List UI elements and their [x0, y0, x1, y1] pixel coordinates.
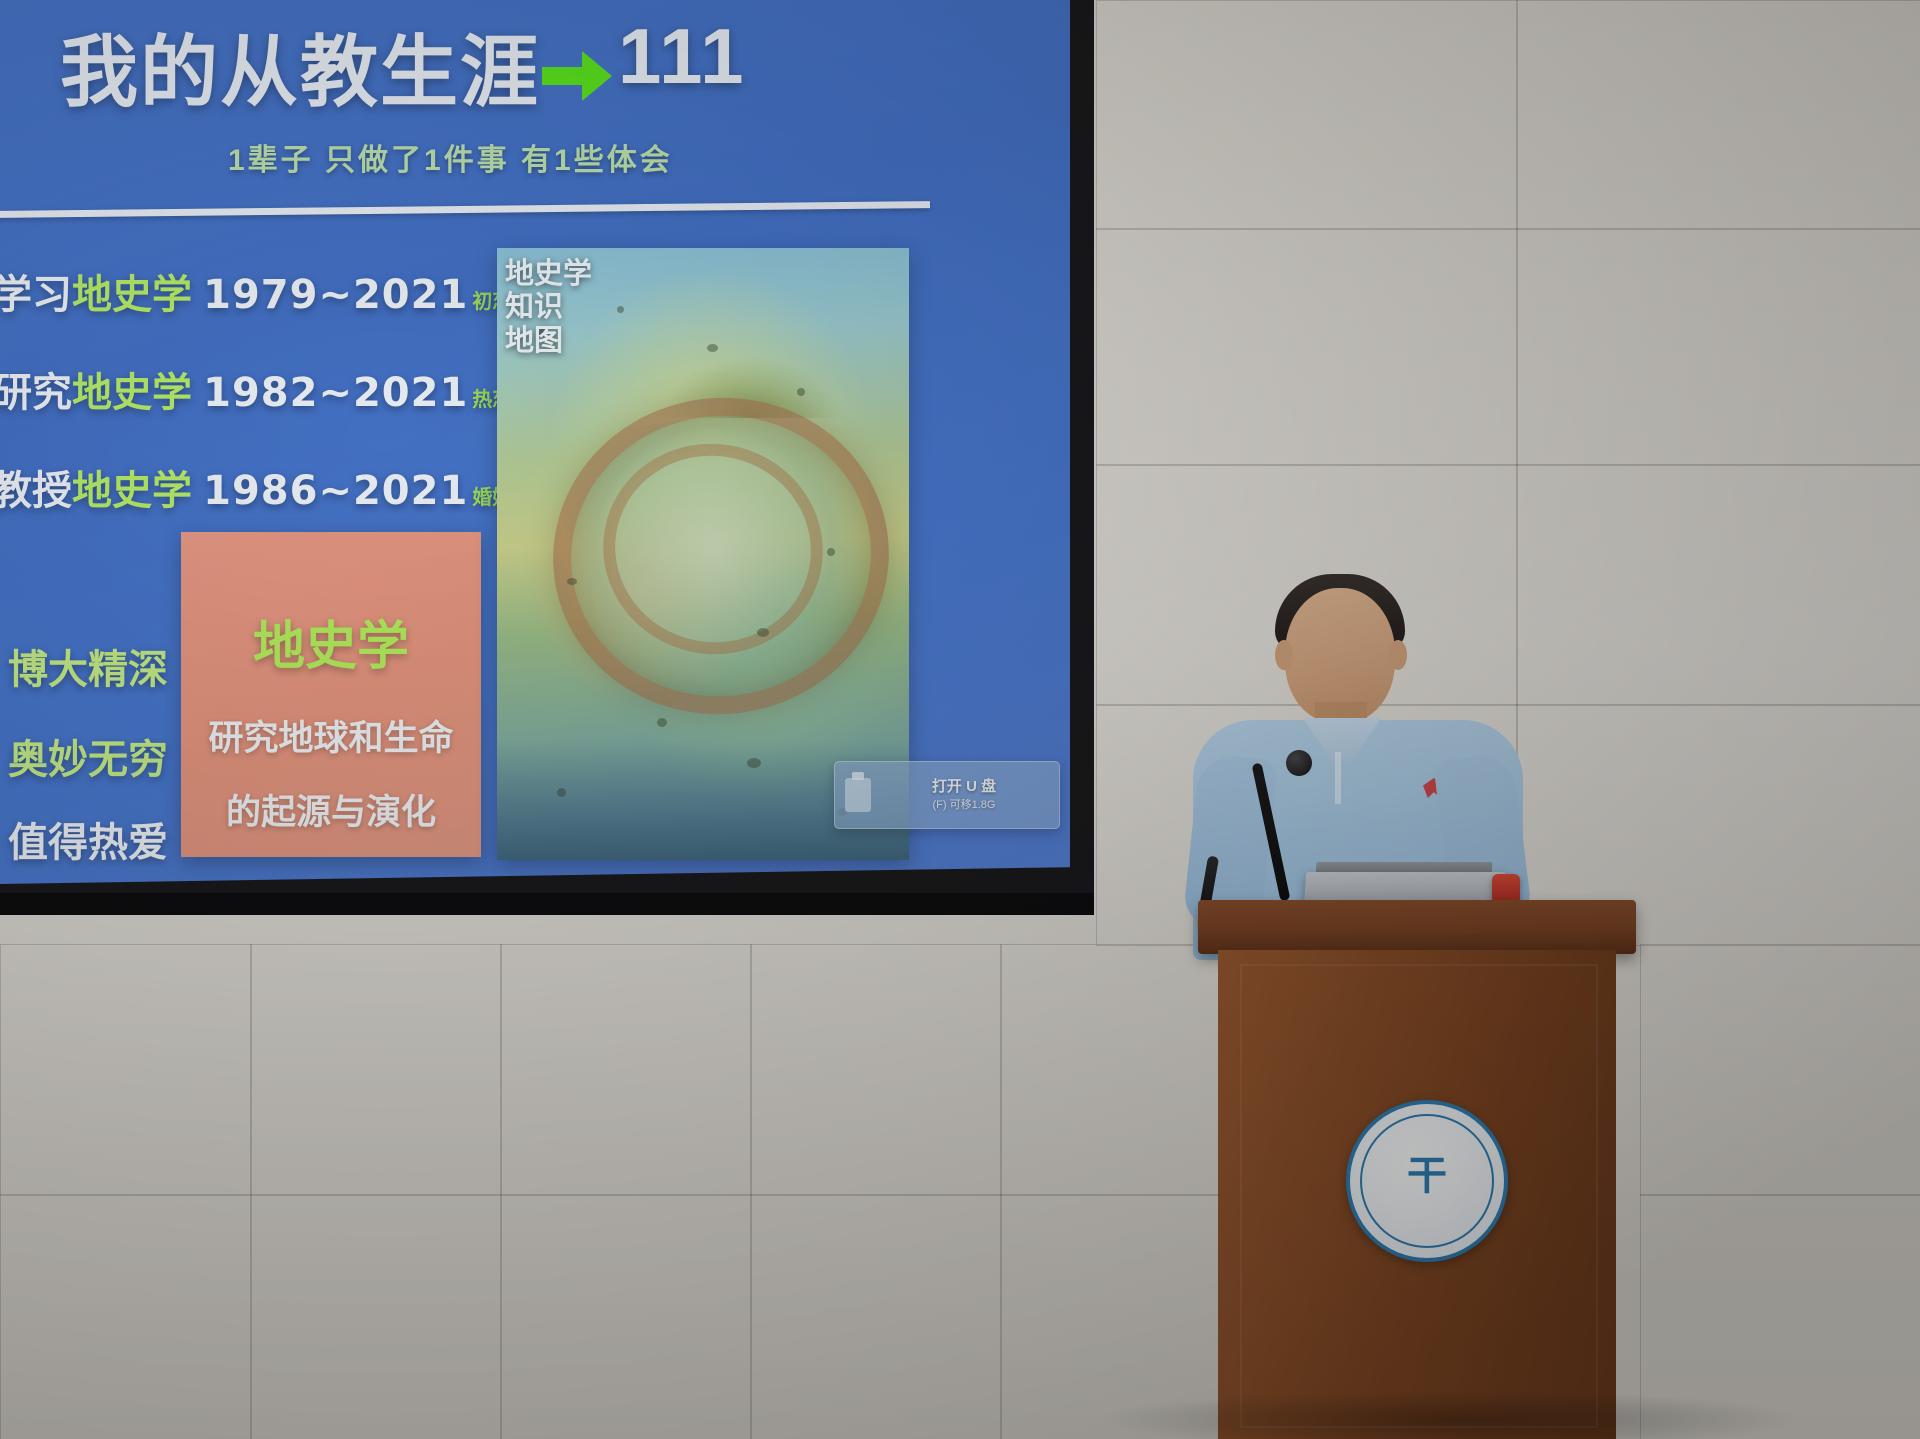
- ambient-shading: [0, 0, 1920, 1439]
- lecture-hall-photo: 我的从教生涯 111 1辈子 只做了1件事 有1些体会 学习地史学 1979~2…: [0, 0, 1920, 1439]
